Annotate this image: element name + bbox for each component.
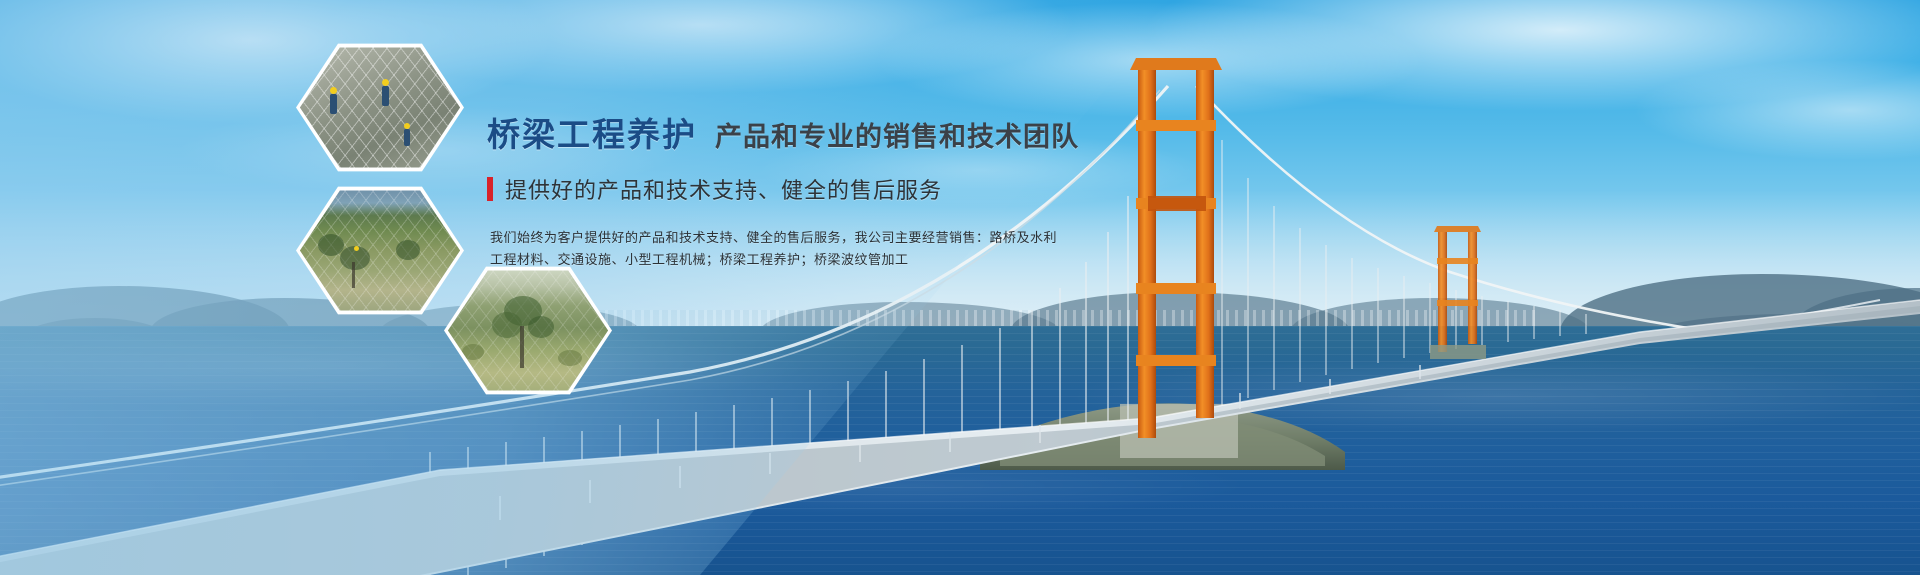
headline-main: 桥梁工程养护: [487, 118, 697, 151]
banner-subtitle: 提供好的产品和技术支持、健全的售后服务: [505, 173, 942, 205]
banner-body-text: 我们始终为客户提供好的产品和技术支持、健全的售后服务，我公司主要经营销售：路桥及…: [490, 227, 1247, 271]
body-line-2: 工程材料、交通设施、小型工程机械；桥梁工程养护；桥梁波纹管加工: [490, 249, 1247, 271]
headline-secondary: 产品和专业的销售和技术团队: [715, 124, 1079, 151]
banner-headline: 桥梁工程养护 产品和专业的销售和技术团队: [487, 118, 1247, 151]
banner-copy: 桥梁工程养护 产品和专业的销售和技术团队 提供好的产品和技术支持、健全的售后服务…: [487, 118, 1247, 271]
hero-banner: 桥梁工程养护 产品和专业的销售和技术团队 提供好的产品和技术支持、健全的售后服务…: [0, 0, 1920, 575]
mesh-overlay: [300, 45, 460, 170]
red-accent-bar: [487, 177, 493, 201]
slope-mesh-workers-photo[interactable]: [300, 45, 460, 170]
hillside-netting-photo[interactable]: [300, 188, 460, 313]
body-line-1: 我们始终为客户提供好的产品和技术支持、健全的售后服务，我公司主要经营销售：路桥及…: [490, 227, 1247, 249]
vegetation-slope-photo[interactable]: [448, 268, 608, 393]
banner-subtitle-row: 提供好的产品和技术支持、健全的售后服务: [487, 173, 1247, 205]
